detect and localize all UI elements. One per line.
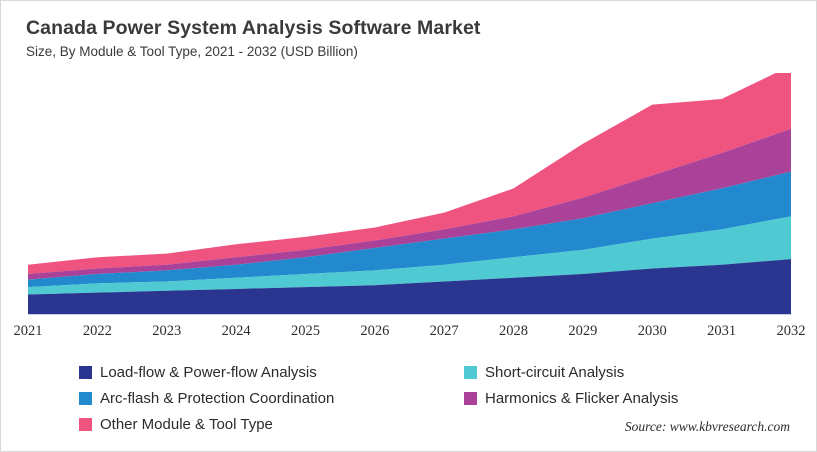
x-tick-label: 2025 bbox=[275, 323, 335, 340]
legend-swatch-short-circuit bbox=[464, 366, 477, 379]
title-block: Canada Power System Analysis Software Ma… bbox=[26, 17, 786, 60]
plot-area bbox=[28, 73, 791, 315]
legend-label-arc-flash: Arc-flash & Protection Coordination bbox=[100, 391, 334, 406]
page-title: Canada Power System Analysis Software Ma… bbox=[26, 17, 786, 39]
legend-item-arc-flash[interactable]: Arc-flash & Protection Coordination bbox=[79, 391, 334, 406]
legend-item-short-circuit[interactable]: Short-circuit Analysis bbox=[464, 365, 624, 380]
x-tick-label: 2029 bbox=[553, 323, 613, 340]
x-tick-label: 2031 bbox=[692, 323, 752, 340]
legend-swatch-load-flow bbox=[79, 366, 92, 379]
x-tick-label: 2026 bbox=[345, 323, 405, 340]
legend-swatch-other bbox=[79, 418, 92, 431]
legend-swatch-arc-flash bbox=[79, 392, 92, 405]
legend-item-other[interactable]: Other Module & Tool Type bbox=[79, 417, 273, 432]
stacked-area-chart bbox=[28, 73, 791, 315]
x-tick-label: 2032 bbox=[761, 323, 817, 340]
source-attribution: Source: www.kbvresearch.com bbox=[625, 419, 790, 435]
legend-swatch-harmonics bbox=[464, 392, 477, 405]
x-axis-tick-labels: 2021202220232024202520262027202820292030… bbox=[1, 323, 817, 345]
area-layers bbox=[28, 73, 791, 315]
x-tick-label: 2027 bbox=[414, 323, 474, 340]
chart-figure: Canada Power System Analysis Software Ma… bbox=[0, 0, 817, 452]
x-axis-line bbox=[28, 314, 792, 315]
legend-label-load-flow: Load-flow & Power-flow Analysis bbox=[100, 365, 317, 380]
x-tick-label: 2023 bbox=[137, 323, 197, 340]
x-tick-label: 2021 bbox=[0, 323, 58, 340]
legend-label-other: Other Module & Tool Type bbox=[100, 417, 273, 432]
legend-label-harmonics: Harmonics & Flicker Analysis bbox=[485, 391, 678, 406]
legend-label-short-circuit: Short-circuit Analysis bbox=[485, 365, 624, 380]
x-tick-label: 2030 bbox=[622, 323, 682, 340]
x-tick-label: 2028 bbox=[484, 323, 544, 340]
chart-subtitle: Size, By Module & Tool Type, 2021 - 2032… bbox=[26, 44, 786, 60]
x-tick-label: 2022 bbox=[67, 323, 127, 340]
x-tick-label: 2024 bbox=[206, 323, 266, 340]
legend-item-harmonics[interactable]: Harmonics & Flicker Analysis bbox=[464, 391, 678, 406]
legend-item-load-flow[interactable]: Load-flow & Power-flow Analysis bbox=[79, 365, 317, 380]
